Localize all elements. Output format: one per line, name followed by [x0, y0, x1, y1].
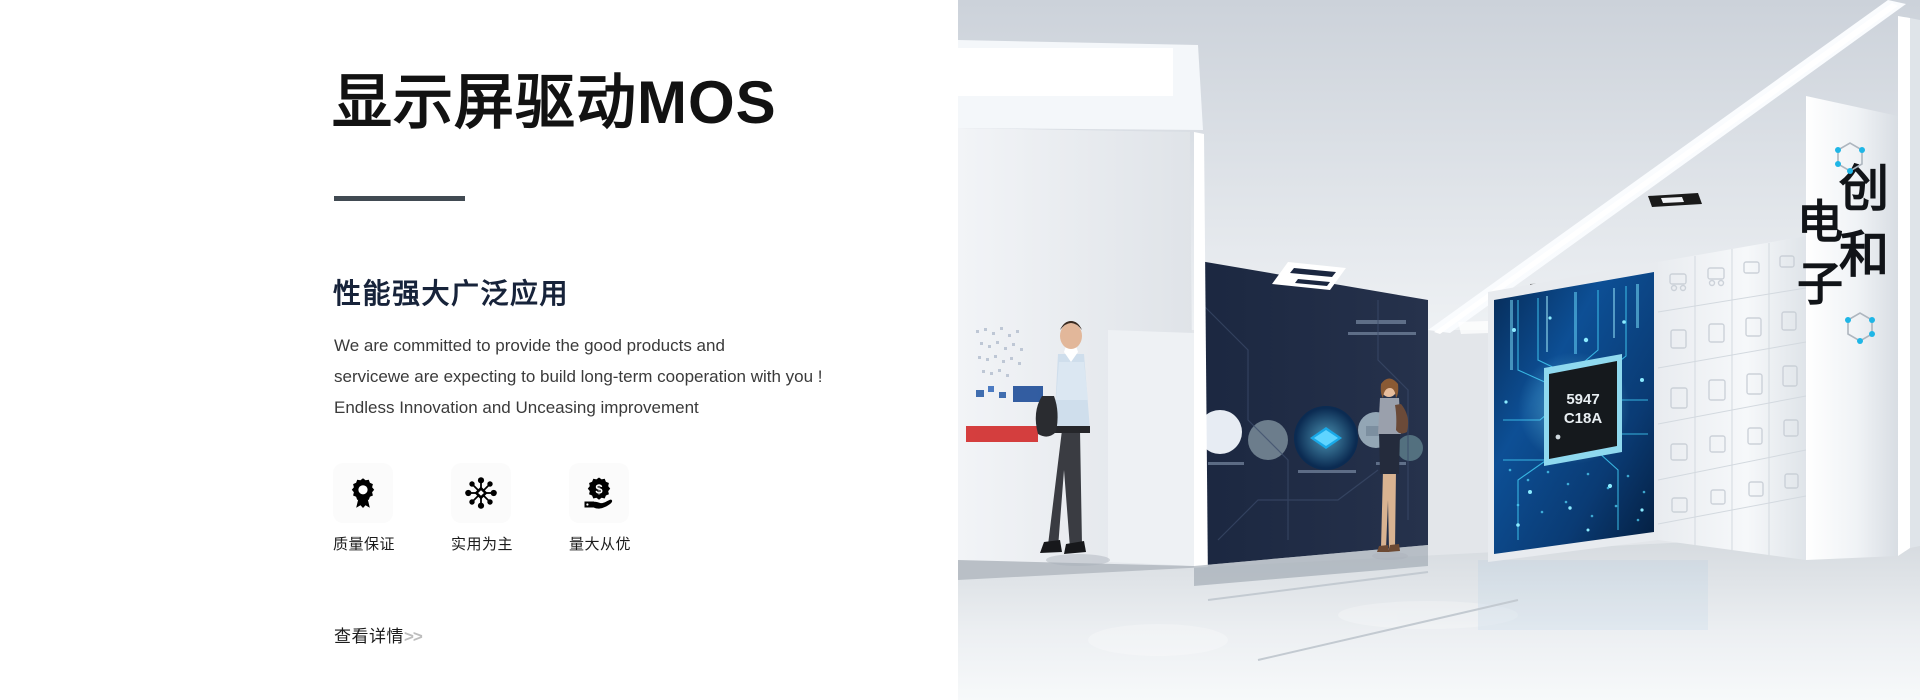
feature-label: 实用为主 [451, 533, 513, 554]
title-divider [334, 196, 465, 201]
double-chevron-right-icon: >> [404, 627, 422, 646]
description-line-3: Endless Innovation and Unceasing improve… [334, 392, 894, 423]
feature-label: 质量保证 [333, 533, 395, 554]
award-badge-icon [346, 476, 380, 510]
feature-icon-box: $ [569, 463, 629, 523]
chip-label-line2: C18A [1564, 410, 1603, 427]
description-line-1: We are committed to provide the good pro… [334, 330, 894, 361]
view-details-label: 查看详情 [334, 627, 404, 646]
feature-label: 量大从优 [569, 533, 631, 554]
description-line-2: servicewe are expecting to build long-te… [334, 361, 894, 392]
left-text-panel: 显示屏驱动MOS 性能强大广泛应用 We are committed to pr… [0, 0, 960, 700]
feature-item-bulk-discount: $ 量大从优 [569, 463, 629, 523]
feature-item-practical: 实用为主 [451, 463, 511, 523]
feature-item-quality: 质量保证 [333, 463, 393, 523]
feature-icon-box [333, 463, 393, 523]
view-details-link[interactable]: 查看详情>> [334, 622, 422, 647]
chip-label-line1: 5947 [1566, 391, 1599, 408]
feature-icon-box [451, 463, 511, 523]
wall-sign-char-4: 子 [1797, 258, 1843, 310]
description-block: We are committed to provide the good pro… [334, 330, 894, 423]
showroom-photo: 5947 C18A [958, 0, 1920, 700]
page-subtitle: 性能强大广泛应用 [333, 272, 569, 312]
wall-sign-char-3: 电 [1797, 196, 1843, 248]
network-hub-icon [464, 476, 498, 510]
svg-text:$: $ [595, 482, 603, 497]
hand-money-icon: $ [582, 476, 616, 510]
page-title: 显示屏驱动MOS [332, 68, 777, 137]
feature-list: 质量保证 [333, 463, 629, 523]
showroom-illustration: 5947 C18A [958, 0, 1920, 700]
wall-sign-char-2: 和 [1839, 227, 1889, 283]
promo-banner: 显示屏驱动MOS 性能强大广泛应用 We are committed to pr… [0, 0, 1920, 700]
